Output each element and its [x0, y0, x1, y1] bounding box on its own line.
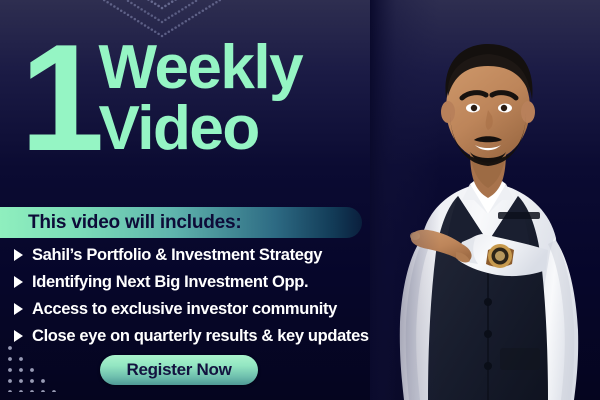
list-item: Sahil’s Portfolio & Investment Strategy [10, 243, 440, 267]
headline-line-2: Video [99, 99, 303, 160]
triangle-right-icon [14, 276, 23, 288]
register-now-button[interactable]: Register Now [100, 355, 258, 385]
list-item-label: Access to exclusive investor community [32, 300, 337, 319]
list-item: Identifying Next Big Investment Opp. [10, 270, 440, 294]
feature-list: Sahil’s Portfolio & Investment Strategy … [10, 243, 440, 351]
headline-number: 1 [20, 36, 95, 161]
list-item-label: Identifying Next Big Investment Opp. [32, 273, 308, 292]
list-item: Access to exclusive investor community [10, 297, 440, 321]
register-now-label: Register Now [126, 360, 231, 380]
headline-line-1: Weekly [99, 38, 303, 99]
headline: 1 Weekly Video [20, 34, 440, 184]
list-item-label: Sahil’s Portfolio & Investment Strategy [32, 246, 322, 265]
includes-banner: This video will includes: [0, 207, 362, 238]
promo-banner: 1 Weekly Video This video will includes:… [0, 0, 600, 400]
headline-lines: Weekly Video [99, 38, 303, 160]
list-item: Close eye on quarterly results & key upd… [10, 324, 440, 348]
includes-label: This video will includes: [28, 212, 242, 234]
triangle-right-icon [14, 330, 23, 342]
triangle-right-icon [14, 249, 23, 261]
list-item-label: Close eye on quarterly results & key upd… [32, 327, 369, 346]
dot-grid-decoration [6, 344, 84, 392]
triangle-right-icon [14, 303, 23, 315]
